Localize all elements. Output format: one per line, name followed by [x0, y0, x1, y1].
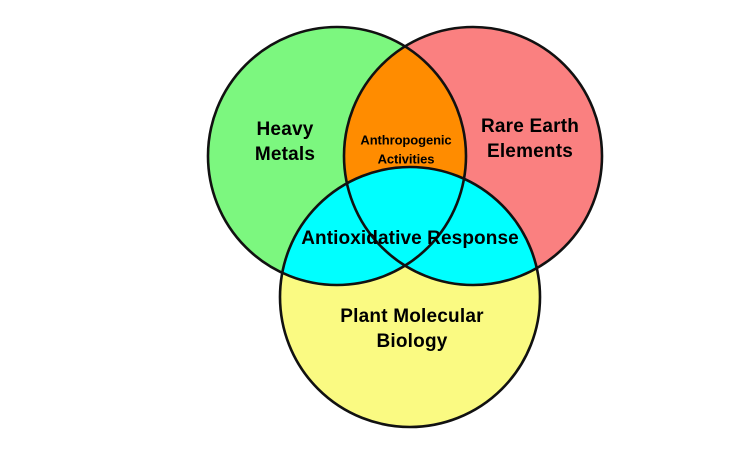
set-label-heavy-metals-line2: Metals: [255, 144, 315, 165]
intersection-label-antioxidative-response: Antioxidative Response: [301, 228, 519, 249]
set-label-plant-molecular-biology-line2: Biology: [376, 331, 447, 352]
set-label-heavy-metals-line1: Heavy: [257, 119, 314, 140]
intersection-label-anthropogenic-activities-line2: Activities: [378, 151, 435, 166]
set-label-rare-earth-elements-line2: Elements: [487, 141, 573, 162]
set-label-rare-earth-elements-line1: Rare Earth: [481, 116, 579, 137]
venn-diagram-canvas: Heavy Metals Rare Earth Elements Anthrop…: [0, 0, 750, 450]
venn-diagram-svg: Heavy Metals Rare Earth Elements Anthrop…: [0, 0, 750, 450]
intersection-label-anthropogenic-activities-line1: Anthropogenic: [360, 132, 451, 147]
set-label-plant-molecular-biology-line1: Plant Molecular: [340, 306, 484, 327]
